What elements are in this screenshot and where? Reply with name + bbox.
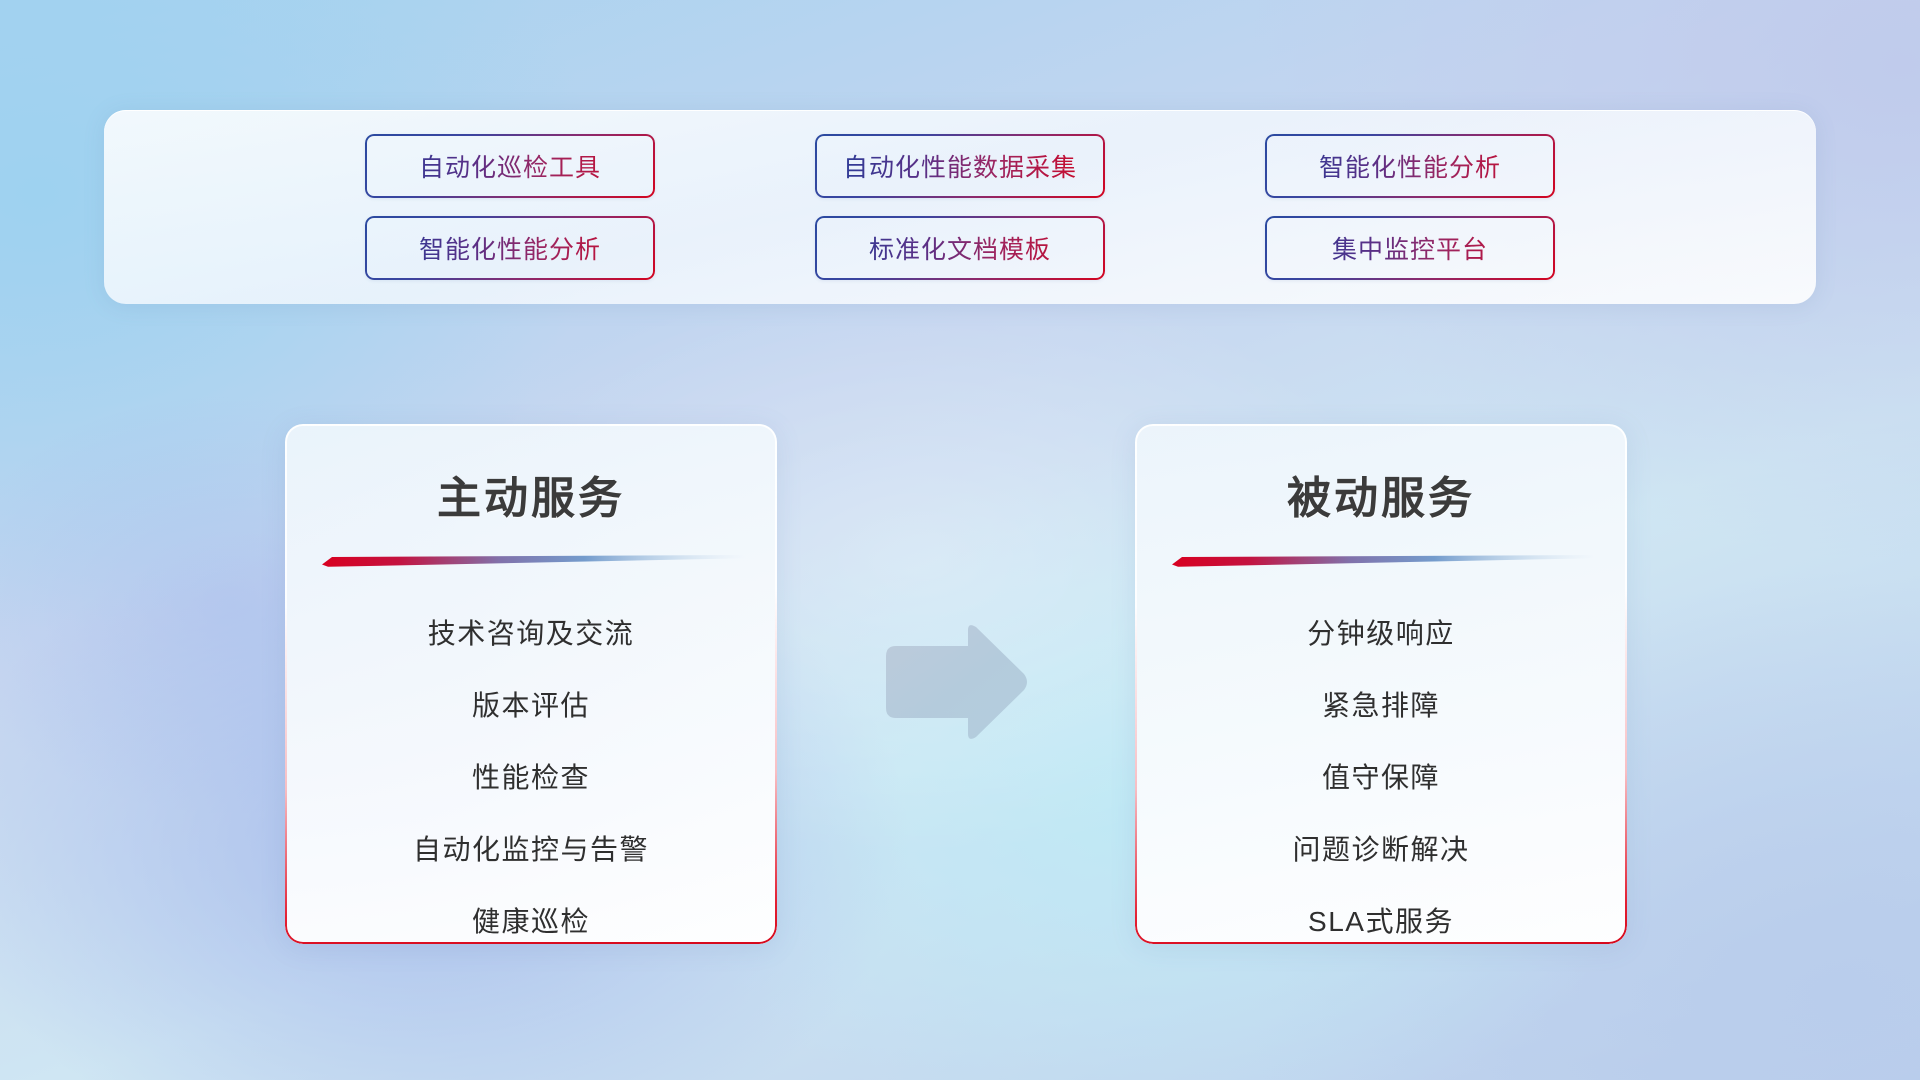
service-list: 分钟级响应 紧急排障 值守保障 问题诊断解决 SLA式服务 — [1135, 598, 1627, 944]
list-item: SLA式服务 — [1308, 886, 1454, 944]
list-item: 值守保障 — [1322, 742, 1440, 814]
divider-gradient-shape — [316, 552, 746, 568]
capability-chip[interactable]: 自动化性能数据采集 — [815, 134, 1105, 198]
capability-chip-label: 智能化性能分析 — [1319, 148, 1501, 184]
capability-chip[interactable]: 智能化性能分析 — [365, 216, 655, 280]
service-list: 技术咨询及交流 版本评估 性能检查 自动化监控与告警 健康巡检 — [285, 598, 777, 944]
service-card-active: 主动服务 技术咨询及交流 版本评估 性能检查 自动化监控与告警 健康巡检 — [285, 424, 777, 944]
card-divider — [1166, 552, 1596, 568]
service-card-passive: 被动服务 分钟级响应 紧急排障 值守保障 问题诊断解决 SLA式服务 — [1135, 424, 1627, 944]
list-item: 问题诊断解决 — [1292, 814, 1469, 886]
capability-chip[interactable]: 标准化文档模板 — [815, 216, 1105, 280]
list-item: 技术咨询及交流 — [428, 598, 635, 670]
capability-chip-label: 标准化文档模板 — [869, 230, 1051, 266]
list-item: 紧急排障 — [1322, 670, 1440, 742]
flow-arrow-right-icon — [872, 622, 1030, 742]
list-item: 健康巡检 — [472, 886, 590, 944]
capability-chip-grid: 自动化巡检工具 自动化性能数据采集 智能化性能分析 智能化性能分析 标准化文档模… — [365, 134, 1555, 280]
capability-chip[interactable]: 集中监控平台 — [1265, 216, 1555, 280]
list-item: 性能检查 — [472, 742, 590, 814]
capability-chip-label: 自动化性能数据采集 — [843, 148, 1077, 184]
divider-gradient-shape — [1166, 552, 1596, 568]
list-item: 自动化监控与告警 — [413, 814, 649, 886]
card-title: 被动服务 — [1135, 462, 1627, 526]
capability-chip-label: 智能化性能分析 — [419, 230, 601, 266]
card-divider — [316, 552, 746, 568]
list-item: 分钟级响应 — [1307, 598, 1455, 670]
capability-chip[interactable]: 自动化巡检工具 — [365, 134, 655, 198]
capability-chip-label: 自动化巡检工具 — [419, 148, 601, 184]
card-title: 主动服务 — [285, 462, 777, 526]
capabilities-panel: 自动化巡检工具 自动化性能数据采集 智能化性能分析 智能化性能分析 标准化文档模… — [104, 110, 1816, 304]
arrow-right-icon — [872, 622, 1030, 742]
list-item: 版本评估 — [472, 670, 590, 742]
capability-chip[interactable]: 智能化性能分析 — [1265, 134, 1555, 198]
capability-chip-label: 集中监控平台 — [1332, 230, 1488, 266]
